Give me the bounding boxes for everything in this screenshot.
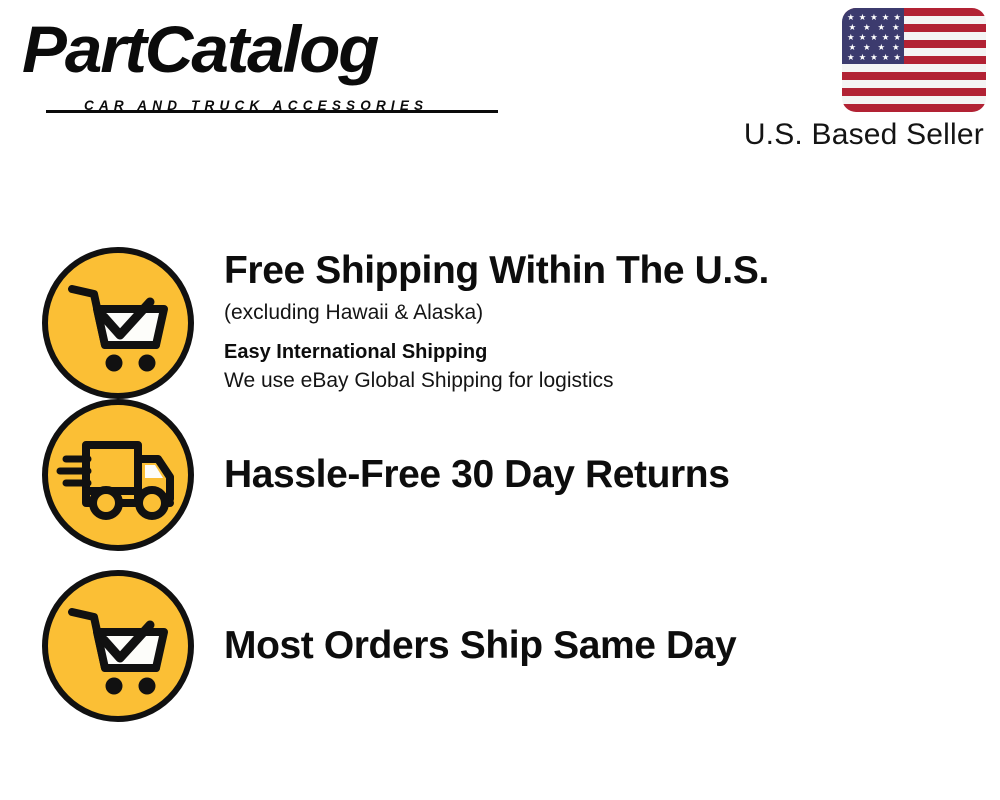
flag-stripe	[842, 104, 986, 112]
brand-wordmark: PartCatalog	[22, 16, 377, 82]
flag-star-row: ★★★★	[845, 23, 903, 32]
flag-star-row: ★★★★★	[845, 33, 903, 42]
feature-heading: Most Orders Ship Same Day	[224, 625, 980, 668]
flag-star-row: ★★★★★	[845, 13, 903, 22]
shopping-cart-check-icon	[42, 247, 194, 399]
feature-row: Most Orders Ship Same Day	[0, 571, 1000, 721]
shopping-cart-check-icon	[42, 570, 194, 722]
brand-logo[interactable]: PartCatalog CAR AND TRUCK ACCESSORIES	[22, 22, 492, 114]
feature-row: Free Shipping Within The U.S. (excluding…	[0, 228, 1000, 418]
feature-icon-wrapper	[42, 399, 194, 551]
us-based-seller-label: U.S. Based Seller	[716, 118, 986, 152]
feature-text: Hassle-Free 30 Day Returns	[224, 454, 1000, 497]
flag-stripe	[842, 72, 986, 80]
feature-subtext-secondary: We use eBay Global Shipping for logistic…	[224, 367, 980, 395]
flag-canton: ★★★★★ ★★★★ ★★★★★ ★★★★ ★★★★★	[842, 8, 904, 64]
feature-text: Most Orders Ship Same Day	[224, 625, 1000, 668]
page-header: PartCatalog CAR AND TRUCK ACCESSORIES ★★…	[0, 0, 1000, 170]
feature-subtext: (excluding Hawaii & Alaska)	[224, 299, 980, 327]
feature-heading: Hassle-Free 30 Day Returns	[224, 454, 980, 497]
brand-tagline: CAR AND TRUCK ACCESSORIES	[84, 98, 428, 113]
flag-stripe	[842, 88, 986, 96]
feature-text: Free Shipping Within The U.S. (excluding…	[224, 250, 1000, 396]
flag-star-row: ★★★★★	[845, 53, 903, 62]
feature-subtext-bold: Easy International Shipping	[224, 339, 980, 366]
delivery-truck-icon	[42, 399, 194, 551]
feature-icon-wrapper	[42, 247, 194, 399]
us-based-seller-badge: ★★★★★ ★★★★ ★★★★★ ★★★★ ★★★★★ U.S. Based S…	[716, 8, 986, 112]
feature-icon-wrapper	[42, 570, 194, 722]
flag-star-row: ★★★★	[845, 43, 903, 52]
feature-row: Hassle-Free 30 Day Returns	[0, 400, 1000, 550]
feature-heading: Free Shipping Within The U.S.	[224, 250, 980, 293]
us-flag-icon: ★★★★★ ★★★★ ★★★★★ ★★★★ ★★★★★	[842, 8, 986, 112]
